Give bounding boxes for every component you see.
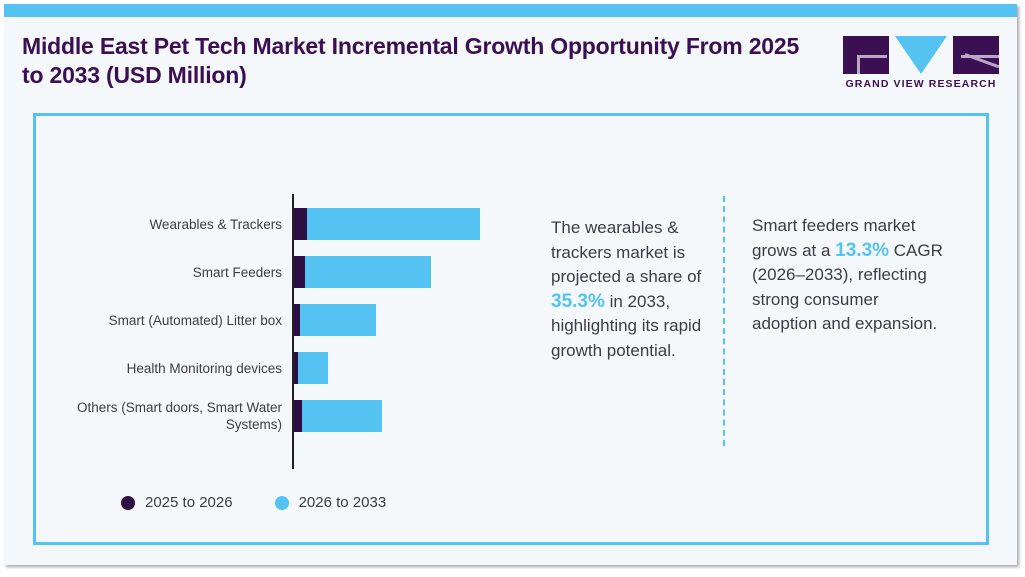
- page-panel: Middle East Pet Tech Market Incremental …: [4, 4, 1017, 565]
- top-accent-bar: [4, 4, 1017, 17]
- brand-logo: GRAND VIEW RESEARCH: [843, 36, 999, 94]
- bar-segment-second-period: [307, 208, 480, 240]
- bar-category-label: Smart Feeders: [36, 264, 282, 281]
- bar-row: Wearables & Trackers: [36, 200, 516, 248]
- bar-row: Smart (Automated) Litter box: [36, 296, 516, 344]
- annotation-wearables-before: The wearables & trackers market is proje…: [551, 218, 701, 286]
- logo-r-icon: [953, 36, 999, 74]
- screenshot-root: Middle East Pet Tech Market Incremental …: [0, 0, 1025, 577]
- bar-segment-second-period: [298, 352, 328, 384]
- bar-segment-second-period: [300, 304, 376, 336]
- bar-chart: Wearables & TrackersSmart FeedersSmart (…: [36, 116, 536, 542]
- stacked-bar: [294, 304, 376, 336]
- logo-v-icon: [895, 36, 947, 74]
- legend-item: 2025 to 2026: [121, 494, 233, 511]
- bar-segment-second-period: [302, 400, 382, 432]
- vertical-dashed-divider: [723, 196, 725, 446]
- legend-item: 2026 to 2033: [275, 494, 387, 511]
- stacked-bar: [294, 208, 480, 240]
- chart-card: Wearables & TrackersSmart FeedersSmart (…: [33, 113, 989, 545]
- bar-category-label: Health Monitoring devices: [36, 360, 282, 377]
- logo-marks: [843, 36, 999, 74]
- stacked-bar: [294, 400, 382, 432]
- bar-segment-first-period: [294, 256, 305, 288]
- annotation-wearables-highlight: 35.3%: [551, 291, 605, 312]
- stacked-bar: [294, 256, 431, 288]
- bar-category-label: Smart (Automated) Litter box: [36, 312, 282, 329]
- logo-wordmark: GRAND VIEW RESEARCH: [843, 78, 999, 90]
- logo-g-icon: [843, 36, 889, 74]
- annotation-feeders: Smart feeders market grows at a 13.3% CA…: [752, 214, 948, 337]
- legend-color-dot: [275, 496, 289, 510]
- bar-row: Smart Feeders: [36, 248, 516, 296]
- legend-color-dot: [121, 496, 135, 510]
- bar-segment-first-period: [294, 400, 302, 432]
- annotation-wearables: The wearables & trackers market is proje…: [551, 216, 713, 363]
- annotation-feeders-highlight: 13.3%: [835, 240, 889, 261]
- page-title: Middle East Pet Tech Market Incremental …: [22, 32, 822, 90]
- bar-row: Health Monitoring devices: [36, 344, 516, 392]
- bar-segment-first-period: [294, 208, 307, 240]
- stacked-bar: [294, 352, 328, 384]
- bar-category-label: Others (Smart doors, Smart Water Systems…: [36, 399, 282, 433]
- bar-row: Others (Smart doors, Smart Water Systems…: [36, 392, 516, 440]
- chart-legend: 2025 to 20262026 to 2033: [121, 494, 386, 511]
- bar-category-label: Wearables & Trackers: [36, 216, 282, 233]
- legend-label: 2026 to 2033: [299, 494, 387, 511]
- legend-label: 2025 to 2026: [145, 494, 233, 511]
- header: Middle East Pet Tech Market Incremental …: [4, 17, 1017, 109]
- bar-segment-second-period: [305, 256, 431, 288]
